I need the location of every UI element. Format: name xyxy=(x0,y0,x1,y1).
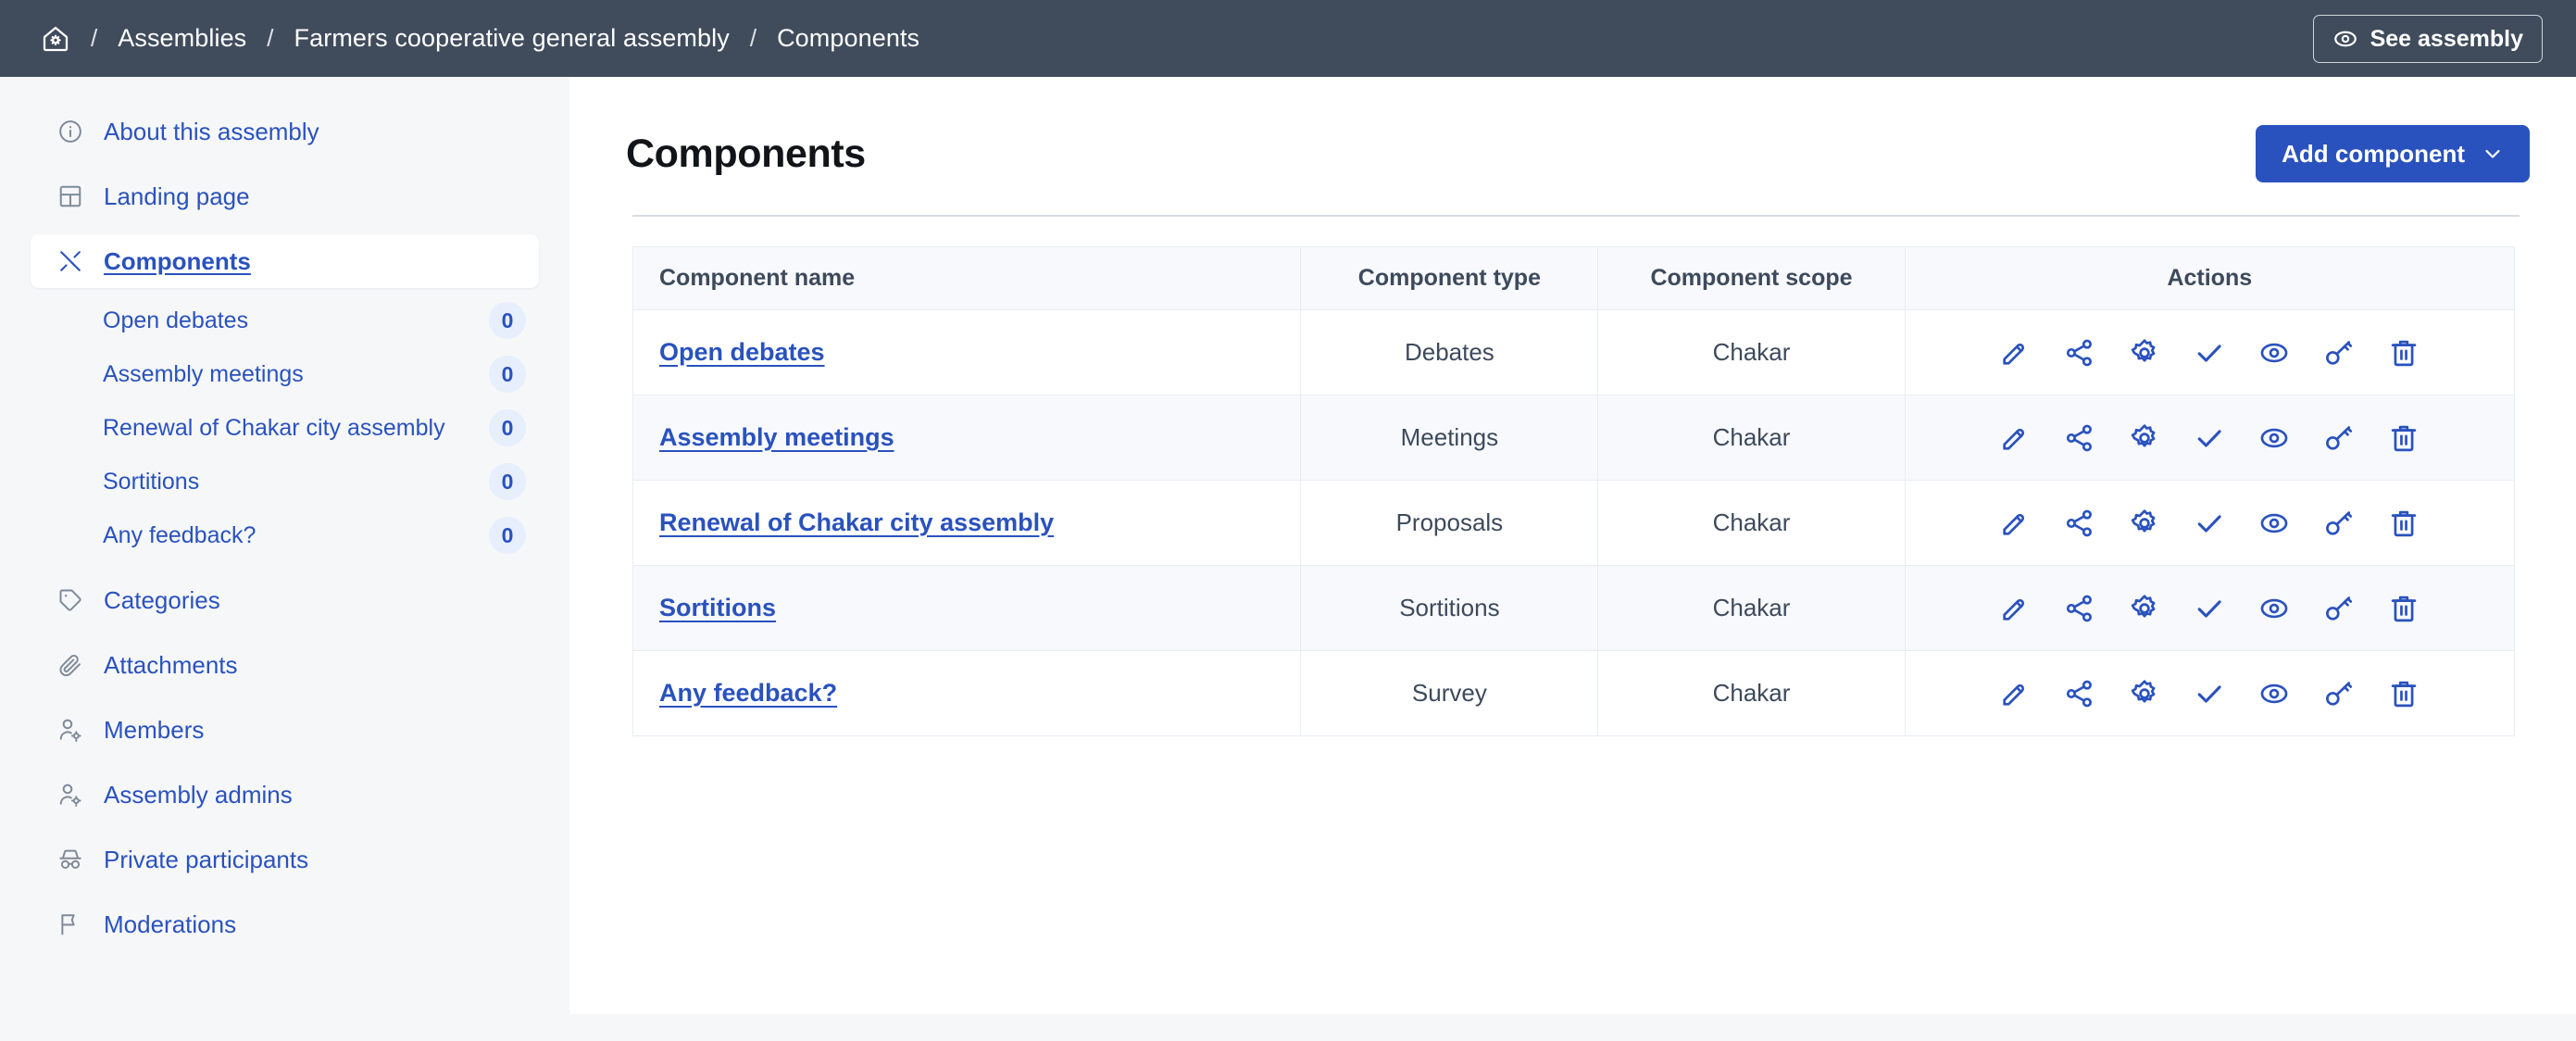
gear-icon[interactable] xyxy=(2129,337,2160,369)
gear-icon[interactable] xyxy=(2129,593,2160,624)
gear-icon[interactable] xyxy=(2129,508,2160,539)
sidebar-subitem-count: 0 xyxy=(489,463,526,500)
cell-component-type: Debates xyxy=(1301,310,1598,395)
gear-icon[interactable] xyxy=(2129,422,2160,454)
trash-icon[interactable] xyxy=(2388,422,2420,454)
flag-icon xyxy=(56,911,83,938)
key-icon[interactable] xyxy=(2323,593,2355,624)
sidebar-subnav: Open debates 0 Assembly meetings 0 Renew… xyxy=(0,294,569,562)
see-assembly-label: See assembly xyxy=(2370,26,2523,53)
column-header-component-scope: Component scope xyxy=(1598,247,1905,310)
table-row: Any feedback?SurveyChakar xyxy=(633,651,2515,736)
breadcrumb: / Assemblies / Farmers cooperative gener… xyxy=(0,24,919,54)
sidebar-subitem-renewal-of-chakar-city-assembly[interactable]: Renewal of Chakar city assembly 0 xyxy=(31,401,539,455)
home-gear-icon[interactable] xyxy=(41,24,70,54)
sidebar-subitem-assembly-meetings[interactable]: Assembly meetings 0 xyxy=(31,347,539,401)
tag-icon xyxy=(56,587,83,614)
table-body: Open debatesDebatesChakar xyxy=(633,310,2515,736)
page-header: Components Add component xyxy=(569,77,2576,182)
edit-icon[interactable] xyxy=(1999,678,2031,709)
cell-component-type: Sortitions xyxy=(1301,566,1598,651)
paperclip-icon xyxy=(56,652,83,679)
cell-component-scope: Chakar xyxy=(1598,310,1905,395)
layout-grid-icon xyxy=(56,183,83,210)
sidebar-subitem-label: Sortitions xyxy=(103,469,199,495)
component-name-link[interactable]: Open debates xyxy=(659,338,825,366)
sidebar-item-moderations[interactable]: Moderations xyxy=(31,897,539,951)
cell-component-name: Assembly meetings xyxy=(633,395,1301,481)
table-row: Assembly meetingsMeetingsChakar xyxy=(633,395,2515,481)
breadcrumb-components[interactable]: Components xyxy=(777,24,919,53)
sidebar-item-categories[interactable]: Categories xyxy=(31,573,539,627)
spacer xyxy=(0,886,569,897)
top-bar: / Assemblies / Farmers cooperative gener… xyxy=(0,0,2576,77)
chevron-down-icon xyxy=(2482,143,2504,165)
breadcrumb-separator-3: / xyxy=(750,24,757,53)
check-icon[interactable] xyxy=(2194,422,2225,454)
gear-icon[interactable] xyxy=(2129,678,2160,709)
cell-actions xyxy=(1905,566,2514,651)
component-name-link[interactable]: Renewal of Chakar city assembly xyxy=(659,508,1054,536)
sidebar-item-label: Moderations xyxy=(104,910,236,939)
sidebar-subitem-count: 0 xyxy=(489,356,526,393)
edit-icon[interactable] xyxy=(1999,593,2031,624)
component-name-link[interactable]: Assembly meetings xyxy=(659,423,894,451)
row-actions xyxy=(1906,678,2514,709)
edit-icon[interactable] xyxy=(1999,337,2031,369)
components-table: Component name Component type Component … xyxy=(632,246,2515,736)
sidebar-subitem-count: 0 xyxy=(489,302,526,339)
breadcrumb-assemblies[interactable]: Assemblies xyxy=(118,24,246,53)
user-gear-icon xyxy=(56,717,83,744)
sidebar-item-label: Members xyxy=(104,716,204,745)
sidebar-subitem-count: 0 xyxy=(489,409,526,446)
sidebar-item-members[interactable]: Members xyxy=(31,703,539,757)
table-row: Open debatesDebatesChakar xyxy=(633,310,2515,395)
cell-component-name: Any feedback? xyxy=(633,651,1301,736)
sidebar-item-attachments[interactable]: Attachments xyxy=(31,638,539,692)
cell-component-scope: Chakar xyxy=(1598,395,1905,481)
sidebar-item-private-participants[interactable]: Private participants xyxy=(31,833,539,886)
check-icon[interactable] xyxy=(2194,678,2225,709)
sidebar: About this assembly Landing page Compone… xyxy=(0,77,569,1041)
edit-icon[interactable] xyxy=(1999,508,2031,539)
eye-icon xyxy=(2332,26,2358,52)
check-icon[interactable] xyxy=(2194,593,2225,624)
add-component-label: Add component xyxy=(2282,140,2465,169)
sidebar-item-components[interactable]: Components xyxy=(31,234,539,288)
cell-component-scope: Chakar xyxy=(1598,651,1905,736)
cell-component-name: Open debates xyxy=(633,310,1301,395)
sidebar-subitem-label: Any feedback? xyxy=(103,522,256,549)
sidebar-item-about-this-assembly[interactable]: About this assembly xyxy=(31,105,539,158)
cell-component-name: Sortitions xyxy=(633,566,1301,651)
eye-icon[interactable] xyxy=(2258,678,2290,709)
sidebar-subitem-label: Renewal of Chakar city assembly xyxy=(103,415,445,442)
sidebar-item-label: Attachments xyxy=(104,651,238,680)
page-title: Components xyxy=(626,132,866,177)
check-icon[interactable] xyxy=(2194,337,2225,369)
see-assembly-button[interactable]: See assembly xyxy=(2313,15,2543,63)
trash-icon[interactable] xyxy=(2388,593,2420,624)
key-icon[interactable] xyxy=(2323,422,2355,454)
cell-actions xyxy=(1905,651,2514,736)
trash-icon[interactable] xyxy=(2388,508,2420,539)
spacer xyxy=(0,223,569,234)
cell-component-scope: Chakar xyxy=(1598,481,1905,566)
cell-component-scope: Chakar xyxy=(1598,566,1905,651)
sidebar-subitem-open-debates[interactable]: Open debates 0 xyxy=(31,294,539,347)
sidebar-item-landing-page[interactable]: Landing page xyxy=(31,169,539,223)
table-row: Renewal of Chakar city assemblyProposals… xyxy=(633,481,2515,566)
cell-component-name: Renewal of Chakar city assembly xyxy=(633,481,1301,566)
sidebar-subitem-any-feedback[interactable]: Any feedback? 0 xyxy=(31,508,539,562)
breadcrumb-separator-2: / xyxy=(267,24,273,53)
cell-actions xyxy=(1905,481,2514,566)
table-row: SortitionsSortitionsChakar xyxy=(633,566,2515,651)
sidebar-subitem-count: 0 xyxy=(489,517,526,554)
column-header-component-name: Component name xyxy=(633,247,1301,310)
sidebar-item-label: Private participants xyxy=(104,846,308,874)
column-header-actions: Actions xyxy=(1905,247,2514,310)
sidebar-item-label: Assembly admins xyxy=(104,781,293,809)
sidebar-item-label: Categories xyxy=(104,586,220,615)
share-icon[interactable] xyxy=(2064,508,2095,539)
edit-icon[interactable] xyxy=(1999,422,2031,454)
share-icon[interactable] xyxy=(2064,593,2095,624)
key-icon[interactable] xyxy=(2323,337,2355,369)
column-header-component-type: Component type xyxy=(1301,247,1598,310)
table-header-row: Component name Component type Component … xyxy=(633,247,2515,310)
trash-icon[interactable] xyxy=(2388,337,2420,369)
share-icon[interactable] xyxy=(2064,422,2095,454)
sidebar-subitem-label: Open debates xyxy=(103,307,248,334)
cell-component-type: Survey xyxy=(1301,651,1598,736)
key-icon[interactable] xyxy=(2323,508,2355,539)
sidebar-subitem-label: Assembly meetings xyxy=(103,361,304,388)
cell-actions xyxy=(1905,310,2514,395)
info-circle-icon xyxy=(56,119,83,145)
sidebar-item-label: About this assembly xyxy=(104,118,319,146)
eye-icon[interactable] xyxy=(2258,422,2290,454)
eye-icon[interactable] xyxy=(2258,508,2290,539)
spacer xyxy=(0,757,569,768)
cell-actions xyxy=(1905,395,2514,481)
key-icon[interactable] xyxy=(2323,678,2355,709)
sidebar-item-label: Landing page xyxy=(104,182,250,211)
incognito-icon xyxy=(56,847,83,873)
trash-icon[interactable] xyxy=(2388,678,2420,709)
spacer xyxy=(0,692,569,703)
row-actions xyxy=(1906,337,2514,369)
spacer xyxy=(0,627,569,638)
eye-icon[interactable] xyxy=(2258,593,2290,624)
spacer xyxy=(0,822,569,833)
user-gear-icon xyxy=(56,782,83,809)
row-actions xyxy=(1906,508,2514,539)
main-content: Components Add component Component name … xyxy=(569,77,2576,1014)
row-actions xyxy=(1906,422,2514,454)
cell-component-type: Proposals xyxy=(1301,481,1598,566)
sidebar-item-label: Components xyxy=(104,247,251,276)
share-icon[interactable] xyxy=(2064,678,2095,709)
sidebar-subitem-sortitions[interactable]: Sortitions 0 xyxy=(31,455,539,508)
row-actions xyxy=(1906,593,2514,624)
breadcrumb-assembly-name[interactable]: Farmers cooperative general assembly xyxy=(294,24,730,53)
breadcrumb-separator-1: / xyxy=(91,24,97,53)
tools-icon xyxy=(56,248,83,275)
check-icon[interactable] xyxy=(2194,508,2225,539)
sidebar-item-assembly-admins[interactable]: Assembly admins xyxy=(31,768,539,822)
share-icon[interactable] xyxy=(2064,337,2095,369)
eye-icon[interactable] xyxy=(2258,337,2290,369)
add-component-button[interactable]: Add component xyxy=(2256,125,2530,182)
component-name-link[interactable]: Any feedback? xyxy=(659,679,837,707)
cell-component-type: Meetings xyxy=(1301,395,1598,481)
components-table-wrapper: Component name Component type Component … xyxy=(569,217,2576,736)
component-name-link[interactable]: Sortitions xyxy=(659,594,776,621)
spacer xyxy=(0,158,569,169)
spacer xyxy=(0,562,569,573)
